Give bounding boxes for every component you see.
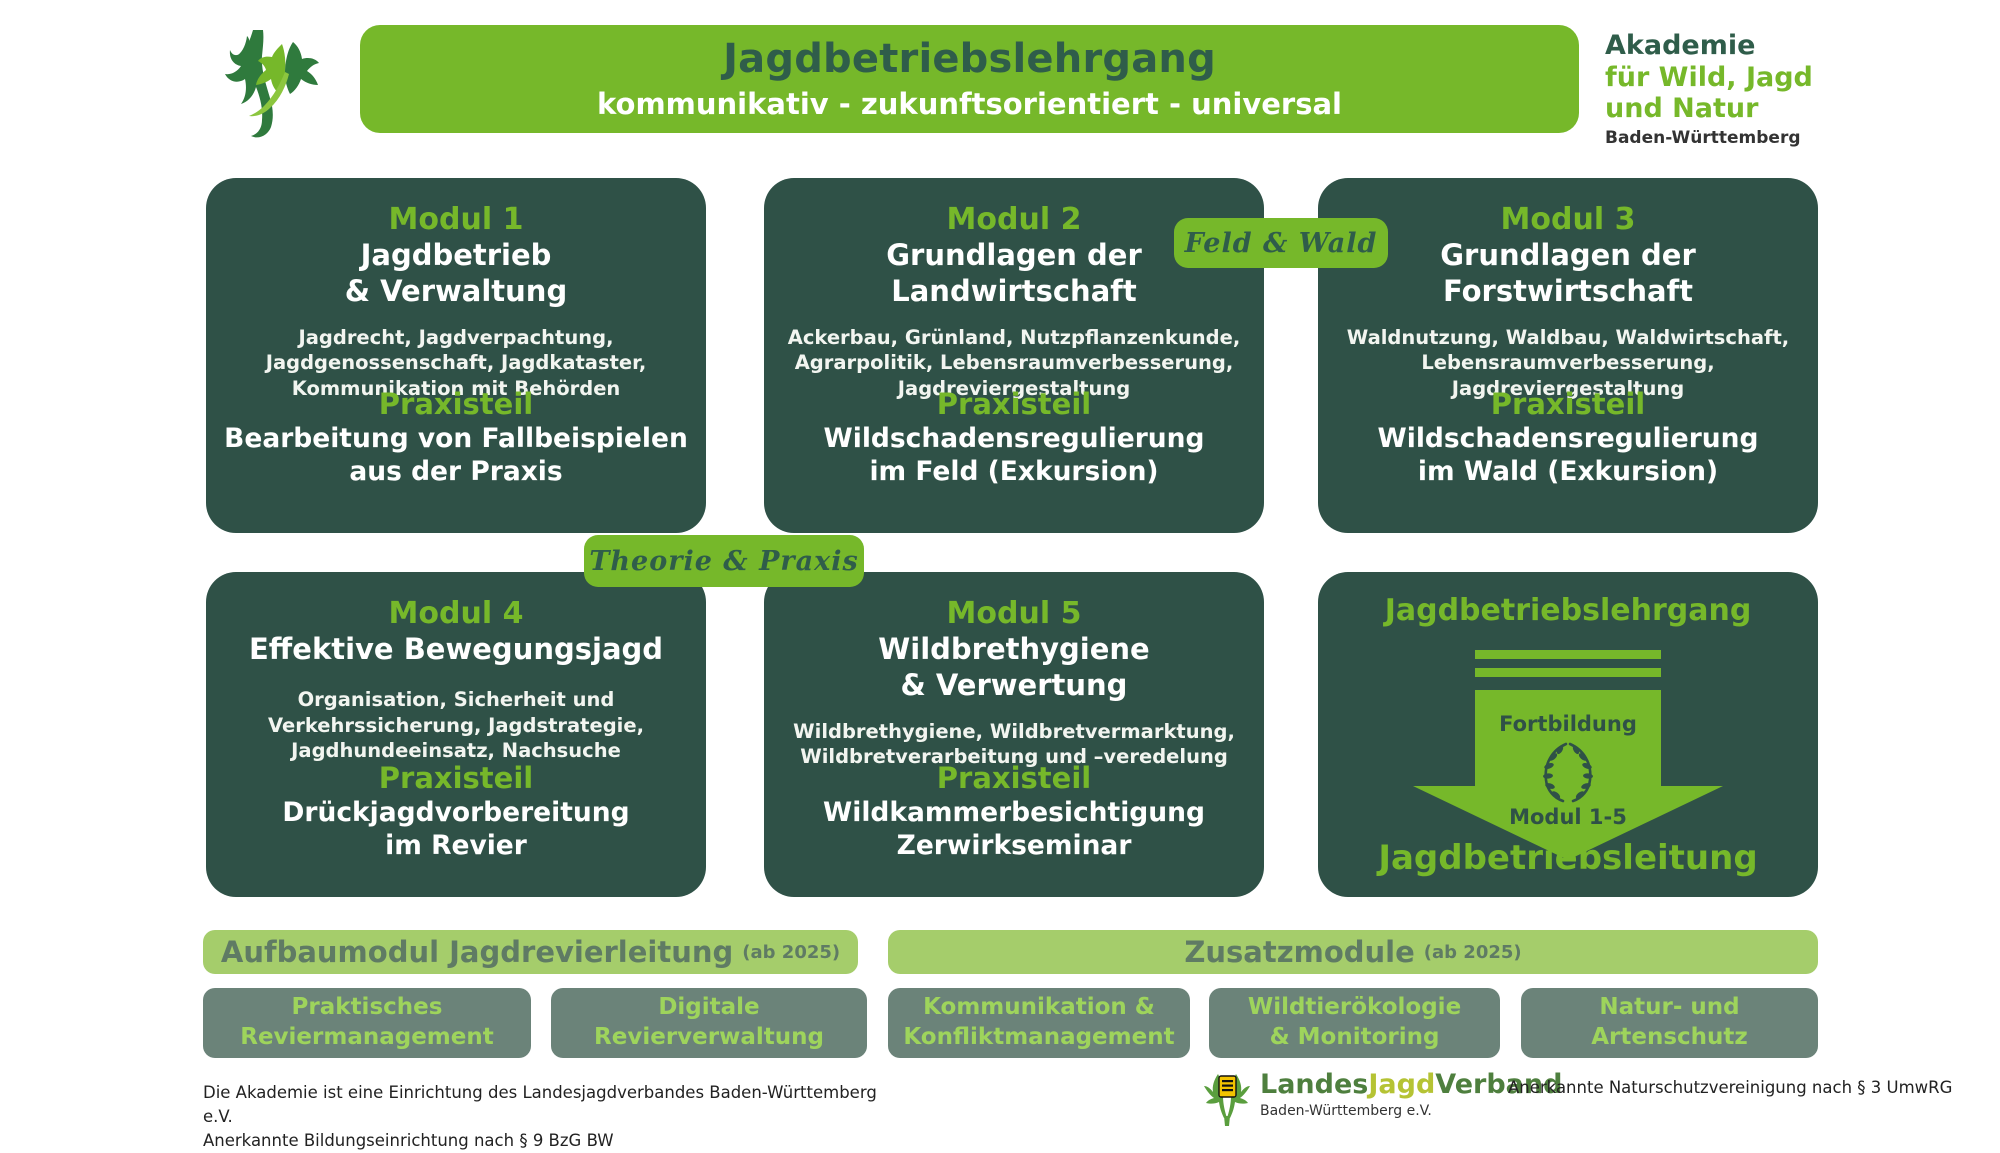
badge-theorie-und-praxis: Theorie & Praxis	[584, 535, 864, 587]
badge-theorie-und-praxis-label: Theorie & Praxis	[589, 546, 858, 577]
praxis-label: Praxisteil	[764, 762, 1264, 795]
praxis-label: Praxisteil	[764, 388, 1264, 421]
page-title: Jagdbetriebslehrgang	[723, 38, 1216, 80]
ljv-name-part1: Landes	[1260, 1069, 1368, 1100]
sub-module-line1: Kommunikation &	[923, 994, 1155, 1020]
sub-module-kommunikation-konfliktmanagement[interactable]: Kommunikation & Konfliktmanagement	[888, 988, 1190, 1058]
laurel-wreath-icon	[1530, 740, 1606, 808]
module-number: Modul 4	[224, 596, 688, 631]
praxis-line2: im Revier	[206, 830, 706, 861]
module-title-line2: Forstwirtschaft	[1336, 275, 1800, 309]
module-desc-line1: Ackerbau, Grünland, Nutzpflanzenkunde,	[782, 325, 1246, 351]
ljv-subtitle: Baden-Württemberg e.V.	[1260, 1103, 1562, 1119]
module-title-line1: Grundlagen der	[1336, 239, 1800, 273]
academy-line-2: für Wild, Jagd	[1605, 62, 1935, 94]
sub-module-wildtieroekologie-monitoring[interactable]: Wildtierökologie & Monitoring	[1209, 988, 1500, 1058]
module-desc-line2: Agrarpolitik, Lebensraumverbesserung,	[782, 350, 1246, 376]
sub-module-praktisches-reviermanagement[interactable]: Praktisches Reviermanagement	[203, 988, 531, 1058]
praxis-line1: Wildschadensregulierung	[764, 423, 1264, 454]
praxis-line2: aus der Praxis	[206, 456, 706, 487]
sub-module-line2: Revierverwaltung	[594, 1024, 824, 1050]
footer-left-line1: Die Akademie ist eine Einrichtung des La…	[203, 1081, 903, 1129]
badge-feld-und-wald-label: Feld & Wald	[1185, 228, 1378, 259]
arrow-double-line	[1475, 650, 1661, 677]
praxis-label: Praxisteil	[206, 388, 706, 421]
result-panel[interactable]: Jagdbetriebslehrgang Fortbildung	[1318, 572, 1818, 897]
sub-module-line2: & Monitoring	[1270, 1024, 1440, 1050]
praxis-label: Praxisteil	[206, 762, 706, 795]
academy-line-3: und Natur	[1605, 93, 1935, 125]
sub-module-line1: Natur- und	[1599, 994, 1739, 1020]
praxis-line1: Wildkammerbesichtigung	[764, 797, 1264, 828]
group-bar-title: Zusatzmodule	[1184, 935, 1414, 969]
module-number: Modul 5	[782, 596, 1246, 631]
module-desc-line1: Jagdrecht, Jagdverpachtung,	[224, 325, 688, 351]
badge-feld-und-wald: Feld & Wald	[1174, 218, 1388, 268]
group-bar-aufbaumodul[interactable]: Aufbaumodul Jagdrevierleitung (ab 2025)	[203, 930, 858, 974]
module-title-line1: Jagdbetrieb	[224, 239, 688, 273]
module-number: Modul 3	[1336, 202, 1800, 237]
sub-module-label: Praktisches Reviermanagement	[240, 993, 494, 1053]
module-desc-line1: Wildbrethygiene, Wildbretvermarktung,	[782, 719, 1246, 745]
module-number: Modul 1	[224, 202, 688, 237]
header-banner: Jagdbetriebslehrgang kommunikativ - zuku…	[360, 25, 1579, 133]
module-card-3[interactable]: Modul 3 Grundlagen der Forstwirtschaft W…	[1318, 178, 1818, 533]
result-bottom-label: Jagdbetriebsleitung	[1318, 840, 1818, 877]
antler-leaf-logo	[206, 22, 336, 140]
module-card-1[interactable]: Modul 1 Jagdbetrieb & Verwaltung Jagdrec…	[206, 178, 706, 533]
academy-line-1: Akademie	[1605, 30, 1935, 62]
module-title-line2: & Verwaltung	[224, 275, 688, 309]
module-desc-line1: Waldnutzung, Waldbau, Waldwirtschaft,	[1336, 325, 1800, 351]
ljv-name-part2: Jagd	[1368, 1069, 1435, 1100]
praxis-line2: im Wald (Exkursion)	[1318, 456, 1818, 487]
sub-module-label: Kommunikation & Konfliktmanagement	[903, 993, 1174, 1053]
group-bar-title: Aufbaumodul Jagdrevierleitung	[221, 935, 733, 969]
module-title-line2: & Verwertung	[782, 669, 1246, 703]
sub-module-natur-und-artenschutz[interactable]: Natur- und Artenschutz	[1521, 988, 1818, 1058]
praxis-line1: Drückjagdvorbereitung	[206, 797, 706, 828]
fortbildung-arrow: Fortbildung	[1318, 650, 1818, 850]
module-card-5[interactable]: Modul 5 Wildbrethygiene & Verwertung Wil…	[764, 572, 1264, 897]
sub-module-label: Digitale Revierverwaltung	[594, 993, 824, 1053]
praxis-line1: Wildschadensregulierung	[1318, 423, 1818, 454]
sub-module-line1: Praktisches	[292, 994, 443, 1020]
praxis-label: Praxisteil	[1318, 388, 1818, 421]
module-card-4[interactable]: Modul 4 Effektive Bewegungsjagd Organisa…	[206, 572, 706, 897]
sub-module-label: Wildtierökologie & Monitoring	[1248, 993, 1461, 1053]
footer-left-text: Die Akademie ist eine Einrichtung des La…	[203, 1081, 903, 1153]
sub-module-line1: Digitale	[658, 994, 759, 1020]
module-desc-line1: Organisation, Sicherheit und	[224, 687, 688, 713]
arrow-label-bottom: Modul 1-5	[1318, 805, 1818, 829]
module-title-line1: Effektive Bewegungsjagd	[224, 633, 688, 667]
sub-module-line2: Artenschutz	[1591, 1024, 1748, 1050]
sub-module-digitale-revierverwaltung[interactable]: Digitale Revierverwaltung	[551, 988, 867, 1058]
praxis-line2: im Feld (Exkursion)	[764, 456, 1264, 487]
praxis-line1: Bearbeitung von Fallbeispielen	[206, 423, 706, 454]
page-subtitle: kommunikativ - zukunftsorientiert - univ…	[597, 89, 1342, 119]
praxis-line2: Zerwirkseminar	[764, 830, 1264, 861]
footer-right-text: Anerkannte Naturschutzvereinigung nach §…	[1508, 1078, 1952, 1097]
module-desc-line2: Verkehrssicherung, Jagdstrategie,	[224, 713, 688, 739]
footer-left-line2: Anerkannte Bildungseinrichtung nach § 9 …	[203, 1129, 903, 1153]
module-title-line1: Wildbrethygiene	[782, 633, 1246, 667]
module-title-line2: Landwirtschaft	[782, 275, 1246, 309]
antler-crest-icon	[1198, 1068, 1256, 1126]
infographic-root: Jagdbetriebslehrgang kommunikativ - zuku…	[0, 0, 2000, 1125]
group-bar-note: (ab 2025)	[1424, 942, 1522, 963]
result-top-label: Jagdbetriebslehrgang	[1318, 594, 1818, 627]
group-bar-zusatzmodule[interactable]: Zusatzmodule (ab 2025)	[888, 930, 1818, 974]
sub-module-line2: Reviermanagement	[240, 1024, 494, 1050]
arrow-label-top: Fortbildung	[1318, 712, 1818, 736]
group-bar-note: (ab 2025)	[742, 942, 840, 963]
sub-module-label: Natur- und Artenschutz	[1591, 993, 1748, 1053]
module-desc-line2: Lebensraumverbesserung,	[1336, 350, 1800, 376]
module-desc-line2: Jagdgenossenschaft, Jagdkataster,	[224, 350, 688, 376]
sub-module-line1: Wildtierökologie	[1248, 994, 1461, 1020]
academy-line-4: Baden-Württemberg	[1605, 129, 1935, 149]
sub-module-line2: Konfliktmanagement	[903, 1024, 1174, 1050]
ljv-logo: LandesJagdVerband Baden-Württemberg e.V.	[1198, 1068, 1562, 1126]
academy-wordmark: Akademie für Wild, Jagd und Natur Baden-…	[1605, 30, 1935, 149]
